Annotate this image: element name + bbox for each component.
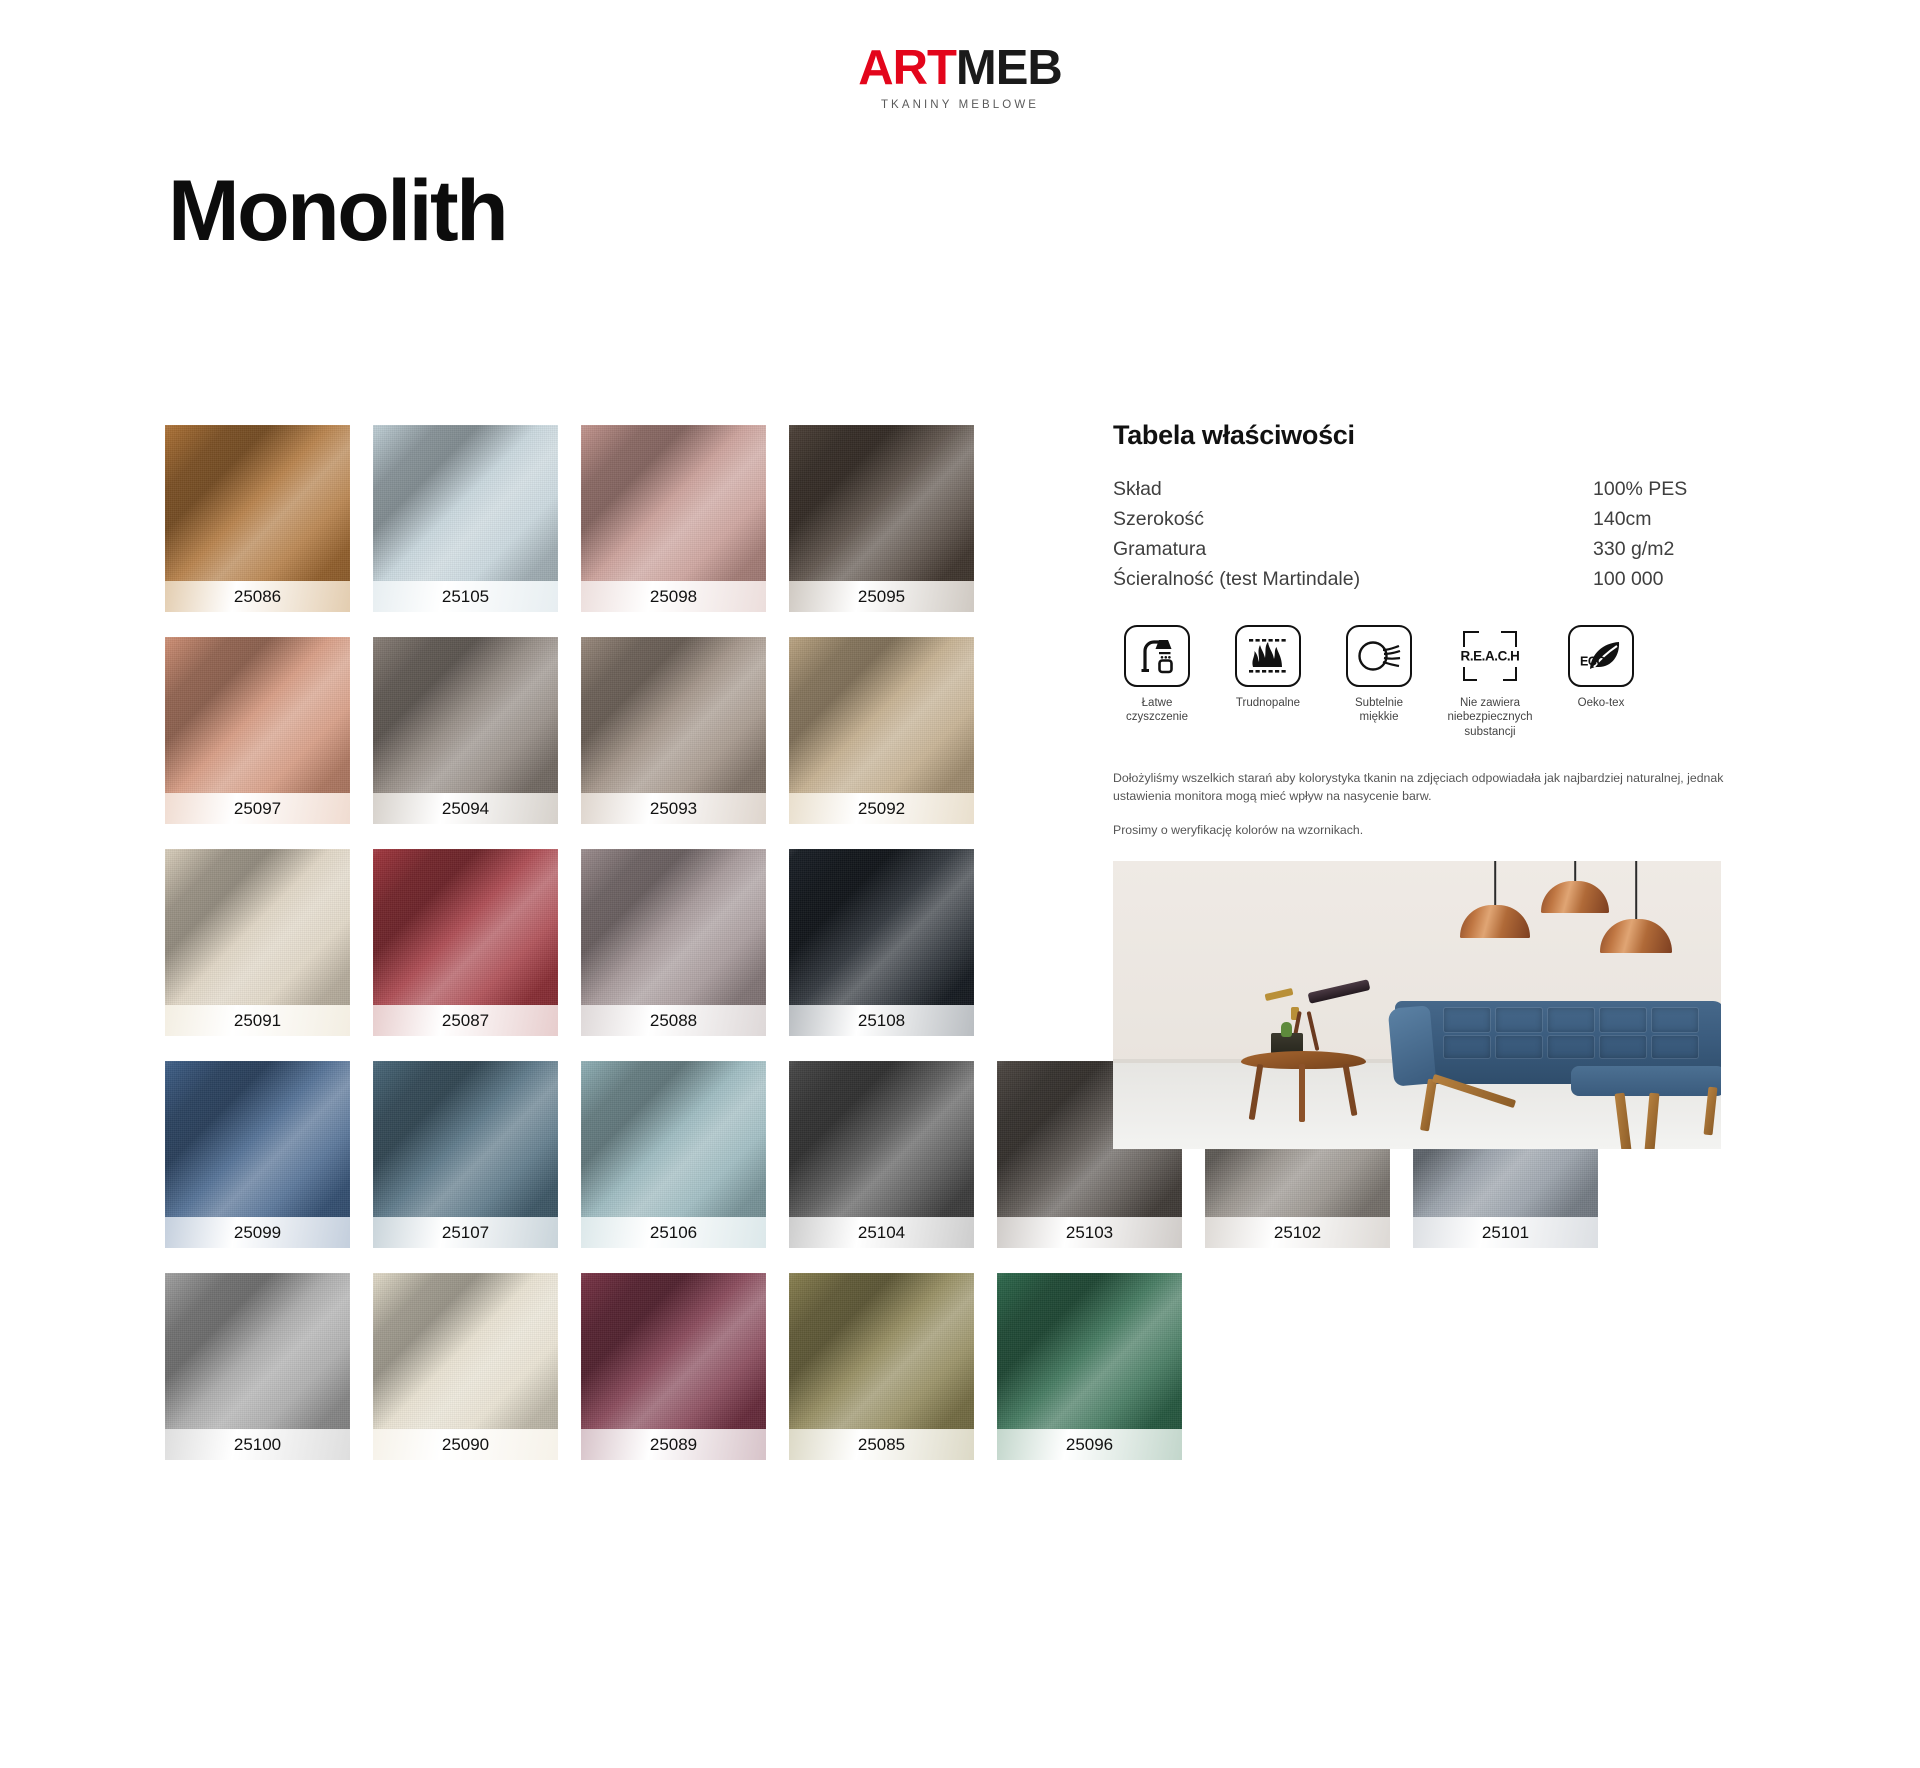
- eco-label: ECO: [1580, 654, 1606, 668]
- swatch-25108[interactable]: 25108: [789, 849, 974, 1036]
- cert-caption: Subtelnie miękkie: [1335, 696, 1423, 725]
- spec-value: 100 000: [1553, 567, 1753, 597]
- flame-retardant-icon: [1235, 625, 1301, 687]
- swatch-25096[interactable]: 25096: [997, 1273, 1182, 1460]
- swatch-code: 25094: [373, 793, 558, 824]
- swatch-25092[interactable]: 25092: [789, 637, 974, 824]
- reach-icon: R.E.A.C.H: [1457, 625, 1523, 687]
- swatch-25094[interactable]: 25094: [373, 637, 558, 824]
- swatch-25105[interactable]: 25105: [373, 425, 558, 612]
- certification-icons: Łatwe czyszczenie Trudnopalne: [1113, 625, 1753, 740]
- swatch-25090[interactable]: 25090: [373, 1273, 558, 1460]
- cert-caption: Łatwe czyszczenie: [1113, 696, 1201, 725]
- swatch-25086[interactable]: 25086: [165, 425, 350, 612]
- swatch-row-5: 25100 25090 25089 25085 25096: [165, 1273, 1785, 1460]
- swatch-code: 25096: [997, 1429, 1182, 1460]
- swatch-code: 25102: [1205, 1217, 1390, 1248]
- swatch-code: 25097: [165, 793, 350, 824]
- logo-art-text: ART: [858, 41, 956, 95]
- spec-label: Ścieralność (test Martindale): [1113, 567, 1553, 597]
- spec-label: Szerokość: [1113, 507, 1553, 537]
- swatch-code: 25100: [165, 1429, 350, 1460]
- swatch-25085[interactable]: 25085: [789, 1273, 974, 1460]
- swatch-25087[interactable]: 25087: [373, 849, 558, 1036]
- swatch-code: 25093: [581, 793, 766, 824]
- swatch-code: 25089: [581, 1429, 766, 1460]
- cert-oeko-tex: ECO Oeko-tex: [1557, 625, 1645, 740]
- swatch-code: 25108: [789, 1005, 974, 1036]
- logo-wordmark: ARTMEB: [0, 44, 1920, 93]
- swatch-code: 25099: [165, 1217, 350, 1248]
- pendant-lamp-left: [1460, 861, 1530, 941]
- logo-meb-text: MEB: [956, 41, 1062, 95]
- cert-easy-clean: Łatwe czyszczenie: [1113, 625, 1201, 740]
- swatch-25093[interactable]: 25093: [581, 637, 766, 824]
- spec-value: 100% PES: [1553, 477, 1753, 507]
- swatch-code: 25106: [581, 1217, 766, 1248]
- brand-logo: ARTMEB TKANINY MEBLOWE: [0, 44, 1920, 111]
- disclaimer-line-2: Prosimy o weryfikację kolorów na wzornik…: [1113, 822, 1738, 840]
- swatch-code: 25101: [1413, 1217, 1598, 1248]
- table-row: Ścieralność (test Martindale) 100 000: [1113, 567, 1753, 597]
- properties-heading: Tabela właściwości: [1113, 420, 1753, 451]
- swatch-25095[interactable]: 25095: [789, 425, 974, 612]
- cert-caption: Oeko-tex: [1557, 696, 1645, 711]
- disclaimer-line-1: Dołożyliśmy wszelkich starań aby kolorys…: [1113, 770, 1738, 806]
- oeko-tex-leaf-icon: ECO: [1568, 625, 1634, 687]
- swatch-code: 25087: [373, 1005, 558, 1036]
- swatch-code: 25086: [165, 581, 350, 612]
- swatch-25089[interactable]: 25089: [581, 1273, 766, 1460]
- cert-soft-touch: Subtelnie miękkie: [1335, 625, 1423, 740]
- properties-table: Skład 100% PES Szerokość 140cm Gramatura…: [1113, 477, 1753, 597]
- pendant-lamp-center: [1541, 861, 1609, 923]
- logo-tagline: TKANINY MEBLOWE: [0, 99, 1920, 111]
- swatch-code: 25091: [165, 1005, 350, 1036]
- swatch-25097[interactable]: 25097: [165, 637, 350, 824]
- swatch-code: 25107: [373, 1217, 558, 1248]
- soft-touch-icon: [1346, 625, 1412, 687]
- swatch-25107[interactable]: 25107: [373, 1061, 558, 1248]
- swatch-25106[interactable]: 25106: [581, 1061, 766, 1248]
- swatch-code: 25092: [789, 793, 974, 824]
- table-row: Skład 100% PES: [1113, 477, 1753, 507]
- swatch-code: 25104: [789, 1217, 974, 1248]
- table-row: Szerokość 140cm: [1113, 507, 1753, 537]
- color-disclaimer: Dołożyliśmy wszelkich starań aby kolorys…: [1113, 770, 1738, 839]
- reach-label: R.E.A.C.H: [1461, 648, 1520, 663]
- swatch-code: 25105: [373, 581, 558, 612]
- cert-flame-retardant: Trudnopalne: [1224, 625, 1312, 740]
- swatch-25088[interactable]: 25088: [581, 849, 766, 1036]
- swatch-code: 25088: [581, 1005, 766, 1036]
- swatch-code: 25098: [581, 581, 766, 612]
- cert-caption: Trudnopalne: [1224, 696, 1312, 711]
- swatch-code: 25103: [997, 1217, 1182, 1248]
- spec-value: 140cm: [1553, 507, 1753, 537]
- interior-photo: [1113, 861, 1721, 1149]
- swatch-25099[interactable]: 25099: [165, 1061, 350, 1248]
- swatch-25104[interactable]: 25104: [789, 1061, 974, 1248]
- swatch-25100[interactable]: 25100: [165, 1273, 350, 1460]
- spec-label: Gramatura: [1113, 537, 1553, 567]
- pendant-lamp-right: [1600, 861, 1672, 957]
- spec-value: 330 g/m2: [1553, 537, 1753, 567]
- page-title: Monolith: [168, 168, 506, 254]
- cert-caption: Nie zawiera niebezpiecznych substancji: [1446, 696, 1534, 740]
- swatch-25098[interactable]: 25098: [581, 425, 766, 612]
- spec-label: Skład: [1113, 477, 1553, 507]
- cert-reach: R.E.A.C.H Nie zawiera niebezpiecznych su…: [1446, 625, 1534, 740]
- swatch-code: 25090: [373, 1429, 558, 1460]
- swatch-25091[interactable]: 25091: [165, 849, 350, 1036]
- properties-panel: Tabela właściwości Skład 100% PES Szerok…: [1113, 420, 1753, 1149]
- easy-clean-icon: [1124, 625, 1190, 687]
- swatch-code: 25085: [789, 1429, 974, 1460]
- swatch-code: 25095: [789, 581, 974, 612]
- table-row: Gramatura 330 g/m2: [1113, 537, 1753, 567]
